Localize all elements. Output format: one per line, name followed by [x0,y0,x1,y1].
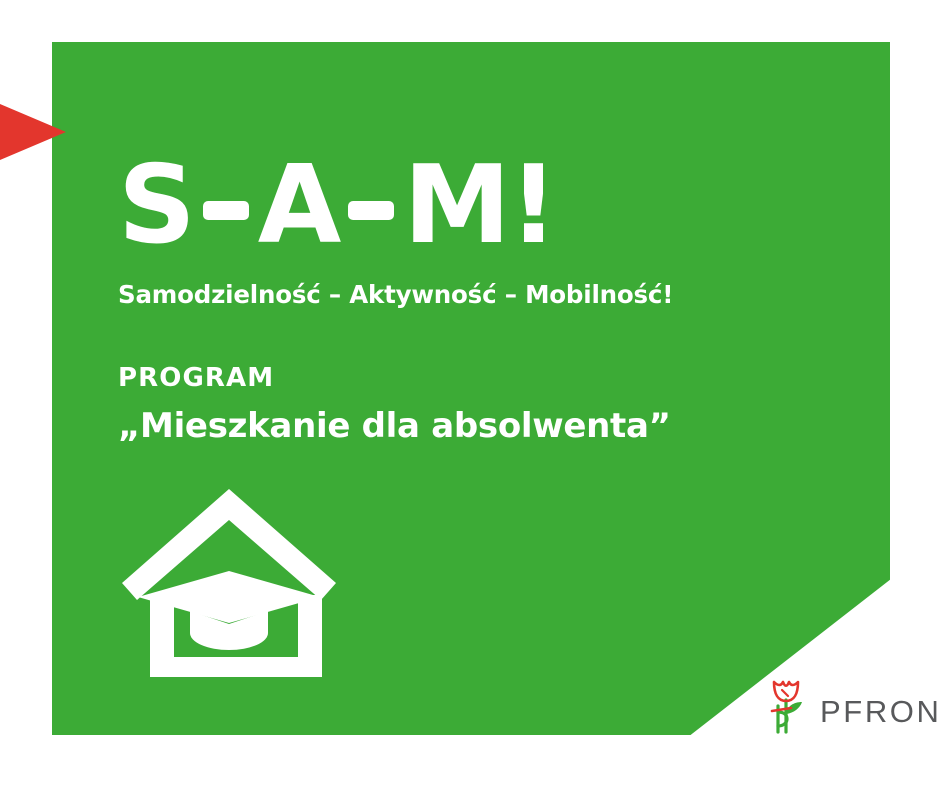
banner-canvas: S A M! Samodzielność – Aktywność – Mobil… [0,0,940,788]
sam-letter-a: A [258,152,340,260]
sam-wordmark: S A M! [118,150,778,262]
pfron-wordmark: PFRON [820,694,940,730]
program-block: PROGRAM „Mieszkanie dla absolwenta” [118,363,778,446]
program-title: „Mieszkanie dla absolwenta” [118,406,778,446]
sam-dash-1 [203,201,249,220]
program-eyebrow-label: PROGRAM [118,363,778,393]
sam-letter-m: M! [403,152,556,260]
pfron-tulip-icon [765,672,809,734]
red-arrow-marker [0,104,66,160]
pfron-logo: PFRON [765,672,940,734]
sam-dash-2 [348,201,394,220]
sam-subtitle: Samodzielność – Aktywność – Mobilność! [118,280,778,309]
house-graduation-cap-icon [118,487,346,677]
banner-content: S A M! Samodzielność – Aktywność – Mobil… [118,150,778,446]
sam-letter-s: S [118,152,194,260]
